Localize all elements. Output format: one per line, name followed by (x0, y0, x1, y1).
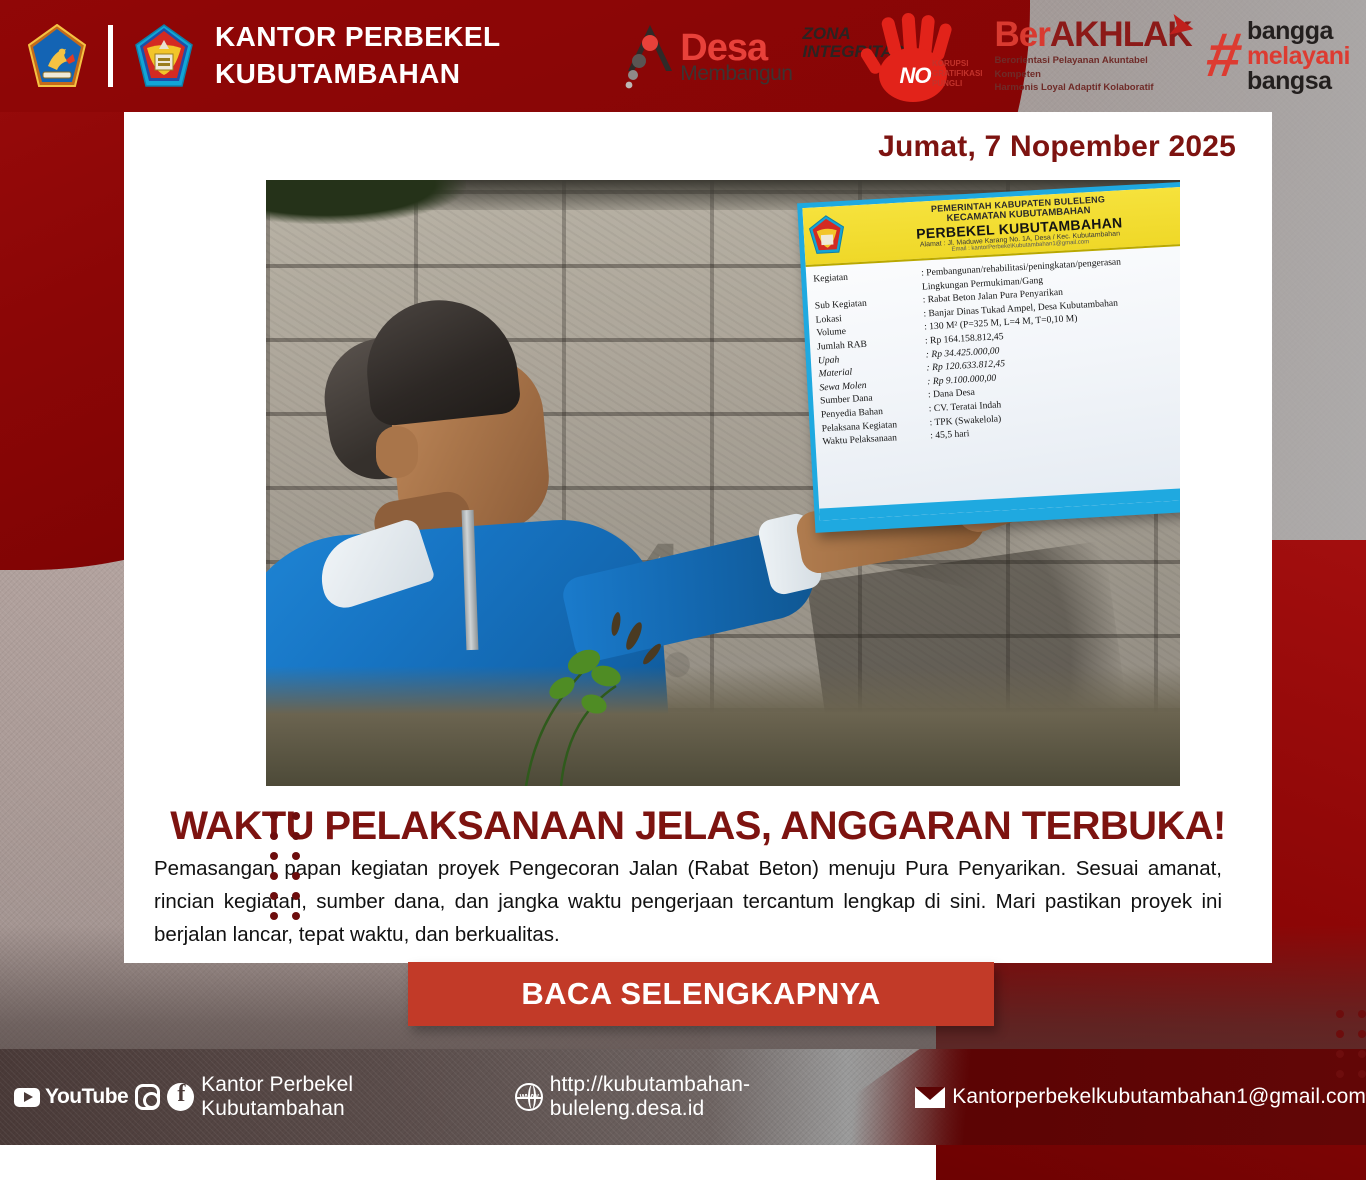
youtube-icon[interactable]: YouTube (14, 1085, 128, 1109)
news-photo: RF14 (266, 180, 1180, 786)
berakhlak-sub-line-2: Harmonis Loyal Adaptif Kolaboratif (995, 81, 1197, 95)
logo-berakhlak: ➤ BerAKHLAK Berorientasi Pelayanan Akunt… (995, 17, 1197, 95)
dot (292, 912, 300, 920)
desa-membangun-mark-icon (620, 19, 676, 93)
dot (270, 812, 278, 820)
person-ear (376, 426, 418, 478)
dot (1358, 1030, 1366, 1038)
bangga-word-1: bangga (1247, 19, 1350, 44)
project-board-face: PEMERINTAH KABUPATEN BULELENG KECAMATAN … (802, 186, 1180, 520)
project-board-detail-list: Kegiatan: Pembangunan/rehabilitasi/penin… (806, 245, 1180, 449)
footer-social-group[interactable]: YouTube Kantor Perbekel Kubutambahan (14, 1073, 489, 1121)
content-card: Jumat, 7 Nopember 2025 RF14 (124, 112, 1272, 963)
berakhlak-ber: Ber (995, 15, 1050, 54)
header-logo-row: Desa Membangun ZONA INTEGRITAS NO (620, 9, 1366, 103)
bangga-word-2: melayani (1247, 44, 1350, 69)
dot (270, 892, 278, 900)
social-handle-label: Kantor Perbekel Kubutambahan (201, 1073, 489, 1121)
bangga-word-3: bangsa (1247, 69, 1350, 94)
page-header: KANTOR PERBEKEL KUBUTAMBAHAN Desa Memban… (0, 0, 1366, 112)
logo-zona-integritas: ZONA INTEGRITAS NO KORUPSI GRATIFIKASI P… (803, 9, 985, 103)
dot (270, 912, 278, 920)
buleleng-regency-crest-icon (135, 24, 193, 88)
hashtag-icon: # (1203, 31, 1244, 81)
project-information-board: PEMERINTAH KABUPATEN BULELENG KECAMATAN … (797, 181, 1180, 533)
dot (1336, 1030, 1344, 1038)
instagram-icon[interactable] (135, 1084, 160, 1110)
dot (270, 852, 278, 860)
page-footer: YouTube Kantor Perbekel Kubutambahan WWW… (0, 1049, 1366, 1145)
decorative-dot-grid-left (270, 812, 300, 920)
dot (292, 892, 300, 900)
www-text: WWW (520, 1094, 539, 1101)
dot (1336, 1010, 1344, 1018)
dot (292, 852, 300, 860)
dot (270, 832, 278, 840)
logo-bangga-melayani-bangsa: # bangga melayani bangsa (1207, 19, 1351, 94)
header-title: KANTOR PERBEKEL KUBUTAMBAHAN (215, 19, 501, 93)
board-crest-icon (808, 214, 846, 256)
youtube-play-icon (14, 1088, 40, 1107)
dot (270, 872, 278, 880)
read-more-button[interactable]: BACA SELENGKAPNYA (408, 962, 994, 1026)
photo-foliage (266, 180, 466, 224)
person-hair (360, 292, 522, 427)
zona-no-badge: NO (900, 63, 931, 89)
desa-line-2: Membangun (680, 63, 792, 84)
photo-plant (466, 576, 696, 786)
logo-desa-membangun: Desa Membangun (620, 19, 792, 93)
photo-ground (266, 666, 1180, 786)
dot (292, 832, 300, 840)
berakhlak-sub-line-1: Berorientasi Pelayanan Akuntabel Kompete… (995, 54, 1197, 82)
headline: WAKTU PELAKSANAAN JELAS, ANGGARAN TERBUK… (154, 804, 1242, 849)
body-paragraph: Pemasangan papan kegiatan proyek Pengeco… (154, 852, 1222, 952)
desa-membangun-text: Desa Membangun (680, 29, 792, 84)
facebook-icon[interactable] (167, 1083, 194, 1111)
bali-province-crest-icon (28, 24, 86, 88)
post-date: Jumat, 7 Nopember 2025 (878, 130, 1236, 164)
globe-www-icon: WWW (515, 1083, 542, 1111)
header-divider (108, 25, 113, 87)
youtube-label: YouTube (45, 1085, 128, 1109)
bangga-wordmark: bangga melayani bangsa (1247, 19, 1350, 94)
envelope-icon (915, 1087, 945, 1108)
dot (292, 872, 300, 880)
footer-website-group[interactable]: WWW http://kubutambahan-buleleng.desa.id (515, 1073, 893, 1121)
dot (292, 812, 300, 820)
dot (1358, 1010, 1366, 1018)
email-address[interactable]: Kantorperbekelkubutambahan1@gmail.com (952, 1085, 1366, 1109)
berakhlak-subtitle: Berorientasi Pelayanan Akuntabel Kompete… (995, 54, 1197, 95)
website-url[interactable]: http://kubutambahan-buleleng.desa.id (550, 1073, 894, 1121)
zona-no-subtext: KORUPSI GRATIFIKASI PUNGLI (932, 59, 983, 89)
desa-line-1: Desa (680, 29, 792, 67)
footer-email-group[interactable]: Kantorperbekelkubutambahan1@gmail.com (915, 1085, 1366, 1109)
